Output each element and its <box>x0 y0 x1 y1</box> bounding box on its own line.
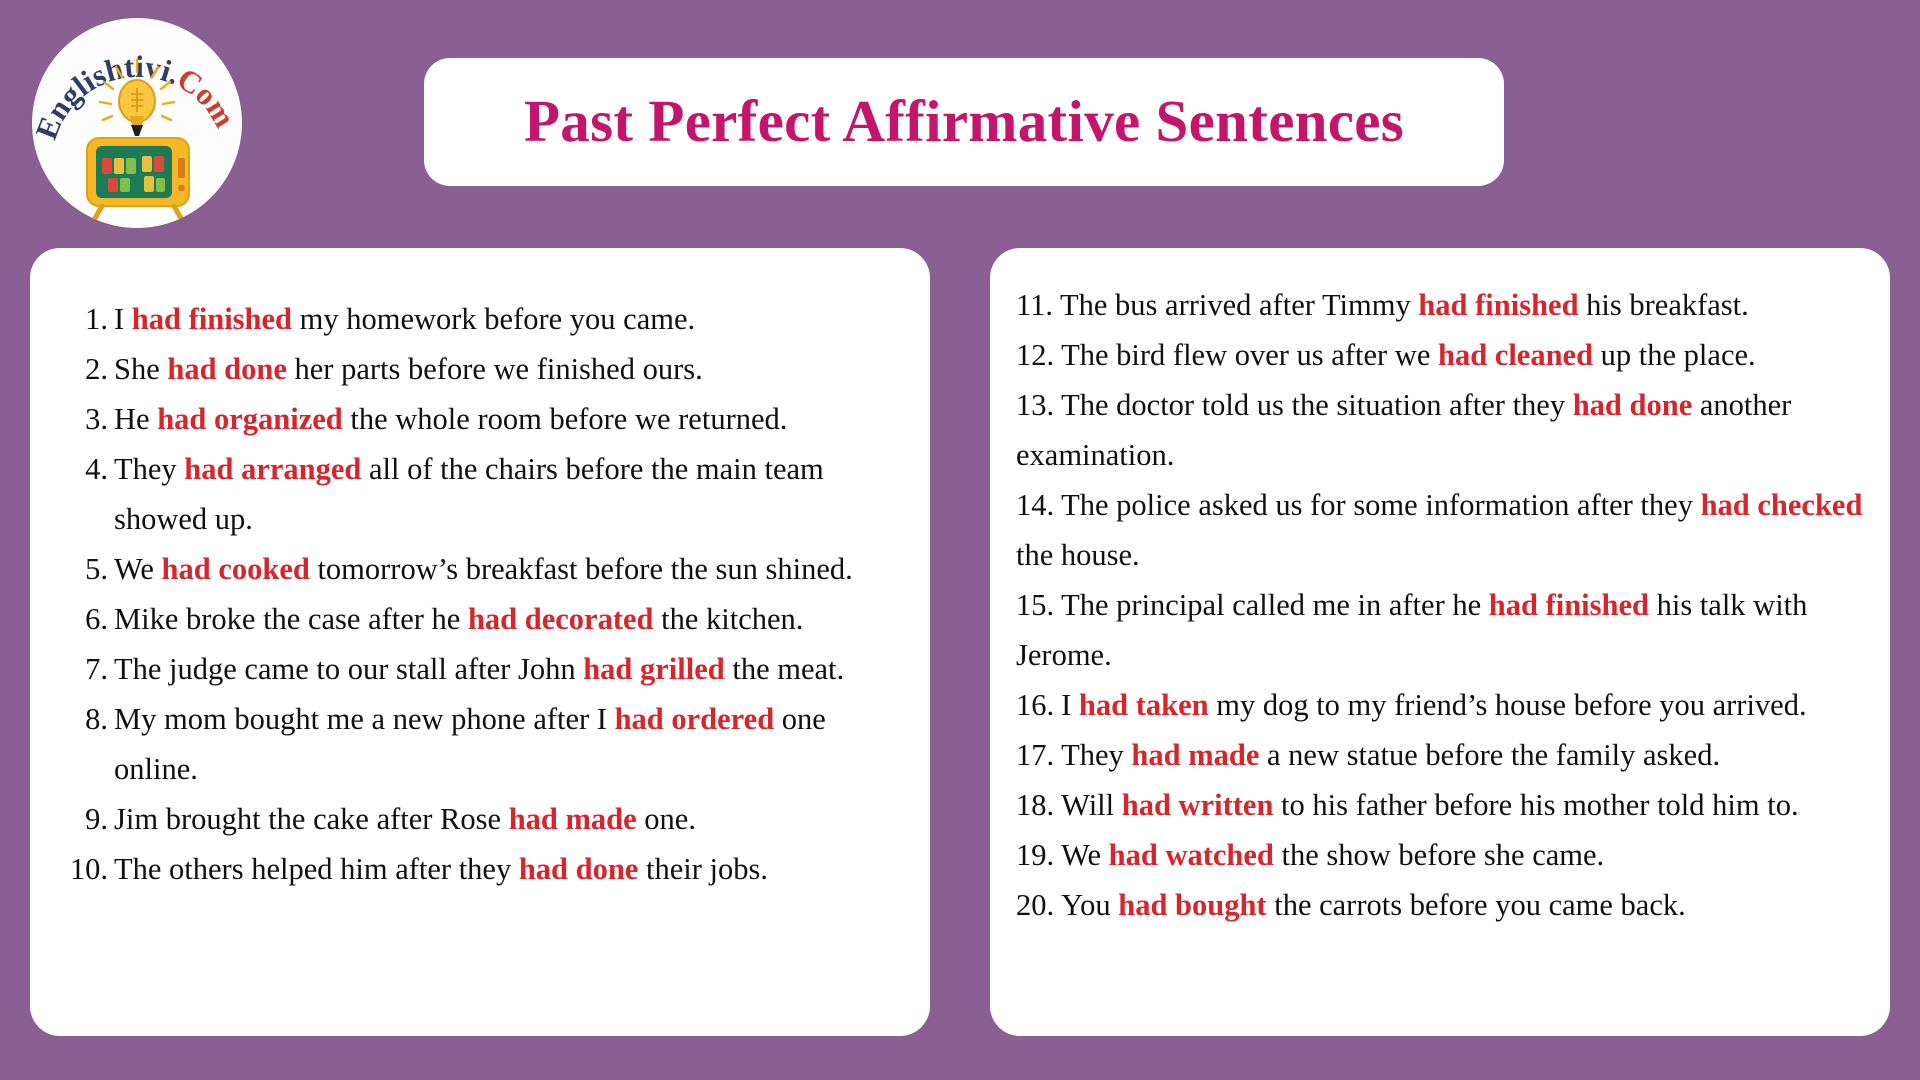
sentence-text-before: The police asked us for some information… <box>1061 488 1700 522</box>
sentence-text-after: his breakfast. <box>1579 288 1749 322</box>
sentence-text-before: The principal called me in after he <box>1061 588 1489 622</box>
highlighted-verb-phrase: had taken <box>1079 688 1209 722</box>
sentence-item: 1.I had finished my homework before you … <box>52 294 904 344</box>
sentence-number: 6. <box>52 594 108 644</box>
sentence-text-after: tomorrow’s breakfast before the sun shin… <box>310 552 853 586</box>
sentence-text-before: Jim brought the cake after Rose <box>114 802 509 836</box>
page-title: Past Perfect Affirmative Sentences <box>524 91 1404 153</box>
highlighted-verb-phrase: had done <box>519 852 639 886</box>
sentence-number: 20. <box>1016 888 1054 922</box>
sentence-text-after: the kitchen. <box>654 602 804 636</box>
sentence-number: 18. <box>1016 788 1054 822</box>
sentence-number: 13. <box>1016 388 1054 422</box>
highlighted-verb-phrase: had made <box>1131 738 1259 772</box>
sentence-item: 17.They had made a new statue before the… <box>1016 730 1868 780</box>
sentence-text-after: the house. <box>1016 538 1140 572</box>
sentence-text-before: Mike broke the case after he <box>114 602 468 636</box>
sentence-number: 10. <box>52 844 108 894</box>
sentence-number: 2. <box>52 344 108 394</box>
sentence-text-after: the whole room before we returned. <box>343 402 788 436</box>
sentence-text-before: My mom bought me a new phone after I <box>114 702 615 736</box>
sentence-text-before: She <box>114 352 167 386</box>
sentence-item: 13.The doctor told us the situation afte… <box>1016 380 1868 480</box>
highlighted-verb-phrase: had finished <box>1418 288 1578 322</box>
sentence-text-before: They <box>1061 738 1131 772</box>
highlighted-verb-phrase: had finished <box>1489 588 1649 622</box>
sentence-text-before: The doctor told us the situation after t… <box>1061 388 1573 422</box>
sentence-number: 1. <box>52 294 108 344</box>
sentence-text-before: You <box>1061 888 1118 922</box>
sentence-item: 5.We had cooked tomorrow’s breakfast bef… <box>52 544 904 594</box>
sentence-text-before: Will <box>1061 788 1122 822</box>
highlighted-verb-phrase: had ordered <box>615 702 775 736</box>
sentence-number: 17. <box>1016 738 1054 772</box>
highlighted-verb-phrase: had decorated <box>468 602 654 636</box>
sentence-number: 11. <box>1016 288 1053 322</box>
highlighted-verb-phrase: had written <box>1122 788 1274 822</box>
sentence-item: 16.I had taken my dog to my friend’s hou… <box>1016 680 1868 730</box>
sentence-number: 12. <box>1016 338 1054 372</box>
logo-artwork: Englishtivi.Com <box>32 18 242 228</box>
highlighted-verb-phrase: had cooked <box>162 552 310 586</box>
title-banner: Past Perfect Affirmative Sentences <box>424 58 1504 186</box>
sentence-text-after: the carrots before you came back. <box>1267 888 1686 922</box>
sentence-item: 6.Mike broke the case after he had decor… <box>52 594 904 644</box>
sentence-text-before: The bird flew over us after we <box>1061 338 1438 372</box>
sentence-text-before: We <box>114 552 162 586</box>
sentence-item: 10.The others helped him after they had … <box>52 844 904 894</box>
sentence-text-before: They <box>114 452 184 486</box>
sentences-card-right: 11.The bus arrived after Timmy had finis… <box>990 248 1890 1036</box>
sentence-number: 14. <box>1016 488 1054 522</box>
sentence-text-after: my dog to my friend’s house before you a… <box>1209 688 1807 722</box>
sentence-number: 5. <box>52 544 108 594</box>
highlighted-verb-phrase: had arranged <box>184 452 361 486</box>
sentence-item: 14.The police asked us for some informat… <box>1016 480 1868 580</box>
sentence-text-after: up the place. <box>1593 338 1756 372</box>
sentence-item: 18.Will had written to his father before… <box>1016 780 1868 830</box>
highlighted-verb-phrase: had done <box>167 352 287 386</box>
sentence-number: 9. <box>52 794 108 844</box>
sentence-list-right: 11.The bus arrived after Timmy had finis… <box>1016 280 1868 930</box>
sentence-text-after: the meat. <box>725 652 844 686</box>
poster-root: Englishtivi.Com <box>0 0 1920 1080</box>
sentence-item: 8.My mom bought me a new phone after I h… <box>52 694 904 794</box>
sentence-text-before: We <box>1061 838 1109 872</box>
sentence-item: 20.You had bought the carrots before you… <box>1016 880 1868 930</box>
sentence-text-before: I <box>1061 688 1079 722</box>
sentence-text-after: a new statue before the family asked. <box>1259 738 1720 772</box>
sentence-item: 7.The judge came to our stall after John… <box>52 644 904 694</box>
sentence-text-after: one. <box>637 802 696 836</box>
sentence-text-before: The judge came to our stall after John <box>114 652 583 686</box>
sentence-item: 19.We had watched the show before she ca… <box>1016 830 1868 880</box>
sentence-number: 15. <box>1016 588 1054 622</box>
sentence-text-before: He <box>114 402 157 436</box>
sentence-text-after: the show before she came. <box>1274 838 1604 872</box>
sentence-list-left: 1.I had finished my homework before you … <box>52 294 904 894</box>
sentence-number: 16. <box>1016 688 1054 722</box>
sentence-item: 2.She had done her parts before we finis… <box>52 344 904 394</box>
sentence-number: 19. <box>1016 838 1054 872</box>
sentence-text-after: my homework before you came. <box>292 302 695 336</box>
sentence-item: 3.He had organized the whole room before… <box>52 394 904 444</box>
sentence-number: 4. <box>52 444 108 494</box>
sentence-text-before: The bus arrived after Timmy <box>1060 288 1418 322</box>
highlighted-verb-phrase: had made <box>509 802 637 836</box>
highlighted-verb-phrase: had cleaned <box>1438 338 1593 372</box>
highlighted-verb-phrase: had checked <box>1701 488 1863 522</box>
highlighted-verb-phrase: had finished <box>132 302 292 336</box>
englishtivi-logo[interactable]: Englishtivi.Com <box>32 18 242 228</box>
highlighted-verb-phrase: had grilled <box>583 652 725 686</box>
sentence-number: 7. <box>52 644 108 694</box>
sentence-item: 9.Jim brought the cake after Rose had ma… <box>52 794 904 844</box>
highlighted-verb-phrase: had done <box>1573 388 1693 422</box>
sentence-text-before: The others helped him after they <box>114 852 519 886</box>
sentence-number: 3. <box>52 394 108 444</box>
highlighted-verb-phrase: had bought <box>1118 888 1266 922</box>
sentence-item: 4.They had arranged all of the chairs be… <box>52 444 904 544</box>
highlighted-verb-phrase: had organized <box>157 402 343 436</box>
sentence-text-after: their jobs. <box>638 852 768 886</box>
sentence-text-after: her parts before we finished ours. <box>287 352 703 386</box>
sentence-item: 12.The bird flew over us after we had cl… <box>1016 330 1868 380</box>
sentence-text-before: I <box>114 302 132 336</box>
sentence-item: 11.The bus arrived after Timmy had finis… <box>1016 280 1868 330</box>
sentence-text-after: to his father before his mother told him… <box>1273 788 1798 822</box>
sentences-card-left: 1.I had finished my homework before you … <box>30 248 930 1036</box>
sentence-number: 8. <box>52 694 108 744</box>
highlighted-verb-phrase: had watched <box>1109 838 1274 872</box>
sentence-item: 15.The principal called me in after he h… <box>1016 580 1868 680</box>
